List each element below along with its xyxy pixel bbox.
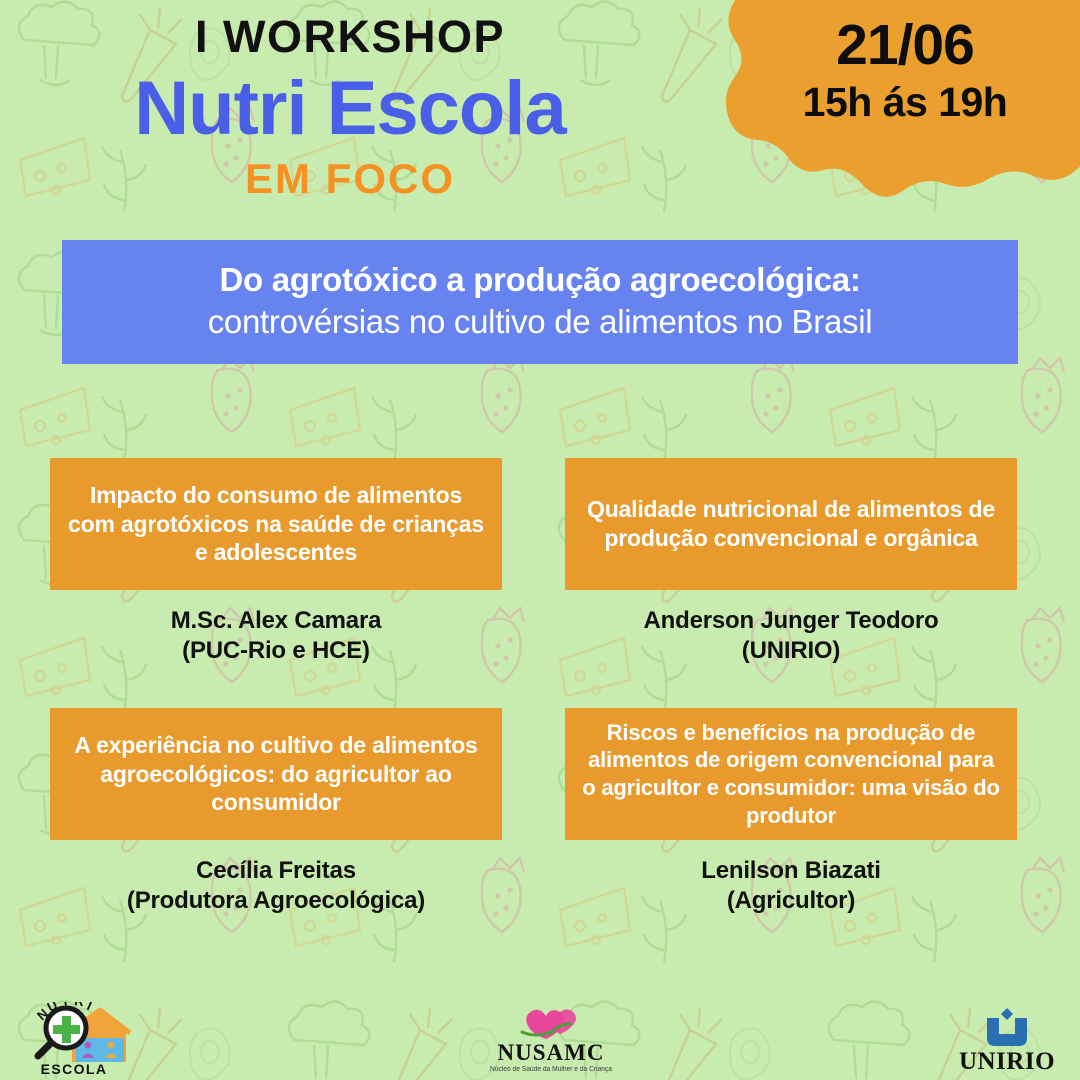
tagline: EM FOCO <box>0 158 700 200</box>
svg-text:I: I <box>85 1002 94 1013</box>
topic-speaker: M.Sc. Alex Camara (PUC-Rio e HCE) <box>50 606 502 667</box>
nusamc-heart-icon <box>516 1006 586 1040</box>
event-time: 15h ás 19h <box>740 78 1070 127</box>
topic-title: Impacto do consumo de alimentos com agro… <box>64 481 488 568</box>
topic-title-box: A experiência no cultivo de alimentos ag… <box>50 708 502 840</box>
speaker-name: Anderson Junger Teodoro <box>565 606 1017 636</box>
theme-banner-line1: Do agrotóxico a produção agroecológica: <box>62 260 1018 300</box>
topic-speaker: Cecília Freitas (Produtora Agroecológica… <box>50 856 502 917</box>
nusamc-logo: NUSAMC Núcleo de Saúde da Mulher e da Cr… <box>478 1006 624 1073</box>
svg-text:ESCOLA: ESCOLA <box>41 1061 108 1076</box>
topic-title: A experiência no cultivo de alimentos ag… <box>64 731 488 818</box>
nusamc-subtitle: Núcleo de Saúde da Mulher e da Criança <box>482 1066 621 1073</box>
topic-card: A experiência no cultivo de alimentos ag… <box>50 708 502 917</box>
brand-title: Nutri Escola <box>0 65 700 152</box>
speaker-affiliation: (PUC-Rio e HCE) <box>50 636 502 666</box>
unirio-symbol-icon <box>977 1006 1037 1048</box>
topic-title: Qualidade nutricional de alimentos de pr… <box>579 495 1003 553</box>
event-poster: 21/06 15h ás 19h I WORKSHOP Nutri Escola… <box>0 0 1080 1080</box>
topic-title-box: Qualidade nutricional de alimentos de pr… <box>565 458 1017 590</box>
speaker-name: M.Sc. Alex Camara <box>50 606 502 636</box>
unirio-logo: UNIRIO <box>948 1006 1066 1074</box>
topic-title-box: Riscos e benefícios na produção de alime… <box>565 708 1017 840</box>
speaker-name: Lenilson Biazati <box>565 856 1017 886</box>
poster-header: I WORKSHOP Nutri Escola EM FOCO <box>0 14 700 200</box>
topic-card: Qualidade nutricional de alimentos de pr… <box>565 458 1017 667</box>
speaker-affiliation: (Agricultor) <box>565 886 1017 916</box>
event-date: 21/06 <box>740 16 1070 74</box>
unirio-name: UNIRIO <box>948 1049 1066 1074</box>
nutri-escola-logo-icon: N U T R I ESCOLA <box>14 1002 134 1076</box>
topic-title: Riscos e benefícios na produção de alime… <box>579 719 1003 830</box>
topic-card: Riscos e benefícios na produção de alime… <box>565 708 1017 917</box>
topic-speaker: Lenilson Biazati (Agricultor) <box>565 856 1017 917</box>
speaker-affiliation: (Produtora Agroecológica) <box>50 886 502 916</box>
speaker-affiliation: (UNIRIO) <box>565 636 1017 666</box>
workshop-label: I WORKSHOP <box>0 14 700 59</box>
theme-banner: Do agrotóxico a produção agroecológica: … <box>62 240 1018 364</box>
date-badge: 21/06 15h ás 19h <box>740 16 1070 127</box>
footer-logos: N U T R I ESCOLA NUSAMC Núcleo de Saúde … <box>0 1000 1080 1080</box>
nusamc-name: NUSAMC <box>478 1041 624 1064</box>
theme-banner-line2: controvérsias no cultivo de alimentos no… <box>62 302 1018 342</box>
nutri-escola-logo: N U T R I ESCOLA <box>14 1002 134 1076</box>
topic-speaker: Anderson Junger Teodoro (UNIRIO) <box>565 606 1017 667</box>
topic-title-box: Impacto do consumo de alimentos com agro… <box>50 458 502 590</box>
speaker-name: Cecília Freitas <box>50 856 502 886</box>
topic-card: Impacto do consumo de alimentos com agro… <box>50 458 502 667</box>
